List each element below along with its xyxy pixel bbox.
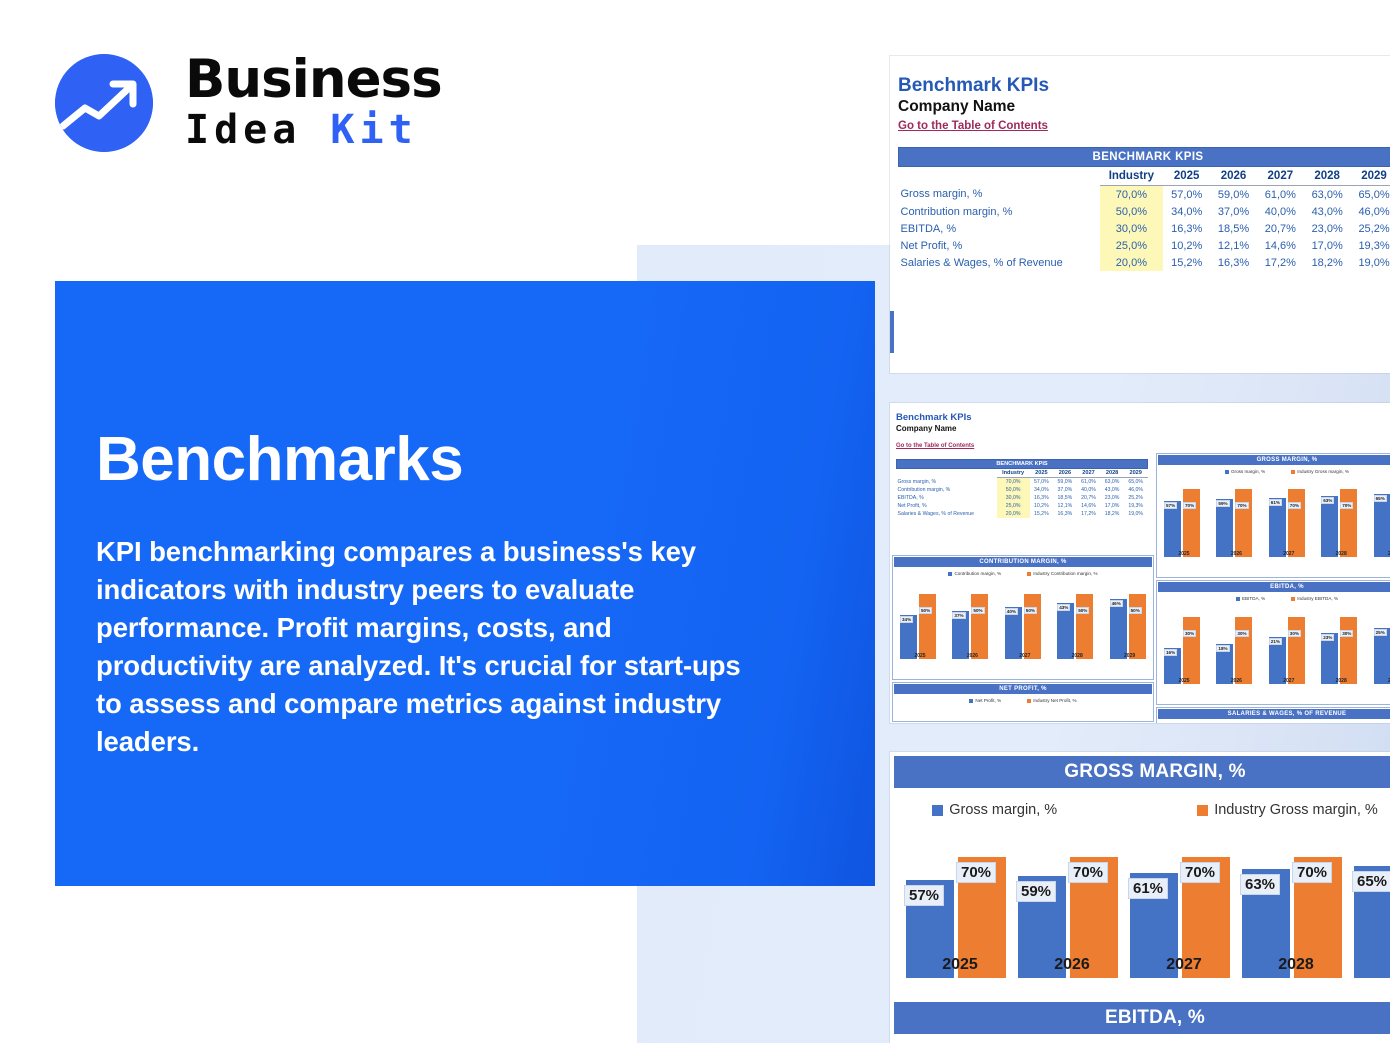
chart-plot-area: 16%30%202518%30%202621%30%202723%30%2028… [1157,604,1390,696]
bar-label-company: 37% [952,612,965,619]
chart-title: CONTRIBUTION MARGIN, % [894,557,1152,567]
cell-2029: 25,2% [1351,220,1390,237]
bar-label-industry: 30% [1340,630,1353,637]
chart-group-2029: 25%30%2029 [1373,604,1390,684]
bar-industry [1183,489,1200,557]
bar-industry [1340,489,1357,557]
chart-group-2025: 57%70%2025 [1163,477,1205,557]
cell-2025: 15,2% [1163,254,1210,271]
cell-2029: 19,0% [1351,254,1390,271]
table-of-contents-link[interactable]: Go to the Table of Contents [898,120,1048,132]
legend-item-0: Gross margin, % [932,802,1057,818]
cell-industry: 50,0% [1100,203,1164,220]
cell-2027: 40,0% [1257,203,1304,220]
cell-2029: 25,2% [1124,494,1148,502]
bar-label-industry: 70% [1183,502,1196,509]
bar-label-industry: 50% [1076,607,1089,614]
bar-label-industry: 70% [1340,502,1353,509]
legend-item-0: Net Profit, % [969,698,1001,703]
brand-name-line1: Business [185,51,442,109]
cell-2027: 14,6% [1257,237,1304,254]
cell-2028: 43,0% [1304,203,1351,220]
chart-xtick: 2029 [1352,956,1390,974]
chart-xtick: 2026 [1016,956,1128,974]
bar-label-company: 57% [1164,502,1177,509]
bar-industry [919,594,936,659]
bar-industry [971,594,988,659]
chart-legend: EBITDA, %Industry EBITDA, % [890,1038,1390,1043]
table-row: Net Profit, %25,0%10,2%12,1%14,6%17,0%19… [899,237,1390,254]
legend-swatch-0 [948,572,952,576]
brand-name-idea: Idea [185,107,330,153]
legend-swatch-0 [932,805,943,816]
bar-label-company: 63% [1321,497,1334,504]
cell-2026: 16,3% [1210,254,1257,271]
chart-ebitda-large[interactable]: EBITDA, %EBITDA, %Industry EBITDA, % [890,998,1390,1043]
chart-xtick: 2028 [1240,956,1352,974]
bar-label-industry: 50% [1129,607,1142,614]
cell-2027: 14,6% [1077,502,1101,510]
chart-group-2026: 59%70%2026 [1215,477,1257,557]
legend-item-1: Industry Contribution margin, % [1027,571,1097,576]
chart-xtick: 2028 [1320,551,1362,557]
legend-item-0: EBITDA, % [1236,596,1265,601]
table-row: Contribution margin, %50,0%34,0%37,0%40,… [897,486,1148,494]
legend-item-1: Industry EBITDA, % [1291,596,1338,601]
row-label: Net Profit, % [897,502,997,510]
chart-title: EBITDA, % [1158,582,1390,592]
cell-2029: 65,0% [1351,186,1390,204]
cell-2028: 17,0% [1100,502,1124,510]
bar-label-company: 23% [1321,634,1334,641]
bar-label-company: 34% [900,616,913,623]
cell-industry: 20,0% [997,510,1030,518]
chart-group-2028: 23%30%2028 [1320,604,1362,684]
bar-industry [1235,617,1252,684]
cell-2028: 18,2% [1100,510,1124,518]
legend-swatch-1 [1027,572,1031,576]
chart-title: EBITDA, % [894,1002,1390,1034]
bar-label-industry: 50% [1024,607,1037,614]
chart-xtick: 2025 [904,956,1016,974]
cell-industry: 30,0% [997,494,1030,502]
bar-label-company: 59% [1016,881,1056,902]
table-band-header: BENCHMARK KPIS [899,148,1390,167]
legend-item-0: Gross margin, % [1225,469,1265,474]
brand-name-kit: Kit [330,107,417,153]
cell-2026: 16,3% [1053,510,1077,518]
cell-2027: 17,2% [1077,510,1101,518]
table-row: Gross margin, %70,0%57,0%59,0%61,0%63,0%… [899,186,1390,204]
bar-label-company: 65% [1374,495,1387,502]
legend-swatch-1 [1197,805,1208,816]
cell-2025: 10,2% [1030,502,1054,510]
chart-xtick: 2027 [1268,678,1310,684]
column-header-2027: 2027 [1257,167,1304,186]
chart-legend: Contribution margin, %Industry Contribut… [893,568,1153,576]
cell-2025: 57,0% [1030,478,1054,487]
page-description: KPI benchmarking compares a business's k… [96,533,772,761]
cell-2025: 10,2% [1163,237,1210,254]
column-header-2029: 2029 [1124,469,1148,478]
cell-2029: 19,3% [1351,237,1390,254]
bar-industry [1024,594,1041,659]
page-title: Benchmarks [96,424,796,496]
table-row: EBITDA, %30,0%16,3%18,5%20,7%23,0%25,2% [899,220,1390,237]
bar-company [1269,498,1286,557]
bar-label-industry: 70% [1068,862,1108,883]
chart-legend: EBITDA, %Industry EBITDA, % [1157,593,1390,601]
table-header-row-small: Industry20252026202720282029 [897,469,1148,478]
chart-xtick: 2025 [1163,551,1205,557]
cell-industry: 50,0% [997,486,1030,494]
row-label: Gross margin, % [899,186,1100,204]
chart-xtick: 2025 [899,653,941,659]
bar-label-industry: 30% [1235,630,1248,637]
cell-2026: 12,1% [1053,502,1077,510]
table-row: Contribution margin, %50,0%34,0%37,0%40,… [899,203,1390,220]
table-body-small: Gross margin, %70,0%57,0%59,0%61,0%63,0%… [897,478,1148,519]
cell-2029: 65,0% [1124,478,1148,487]
benchmark-kpi-table: BENCHMARK KPIS Industry20252026202720282… [898,147,1390,271]
chart-group-2027: 61%70%2027 [1268,477,1310,557]
chart-gross-margin-mini[interactable]: GROSS MARGIN, %Gross margin, %Industry G… [1156,453,1390,578]
bar-label-industry: 70% [1180,862,1220,883]
legend-swatch-1 [1027,699,1031,703]
row-label: Contribution margin, % [899,203,1100,220]
cell-industry: 70,0% [997,478,1030,487]
chart-xtick: 2027 [1004,653,1046,659]
chart-group-2025: 57%70%2025 [904,838,1016,978]
legend-swatch-1 [1291,597,1295,601]
bar-label-company: 21% [1269,638,1282,645]
spreadsheet-card-table[interactable]: Benchmark KPIs Company Name Go to the Ta… [890,56,1390,373]
cell-2025: 16,3% [1030,494,1054,502]
legend-item-1: Industry Net Profit, % [1027,698,1076,703]
cell-2029: 46,0% [1124,486,1148,494]
cell-industry: 25,0% [997,502,1030,510]
bar-label-industry: 70% [1235,502,1248,509]
row-label: EBITDA, % [897,494,997,502]
chart-group-2029: 46%50%2029 [1109,579,1151,659]
chart-xtick: 2027 [1128,956,1240,974]
chart-xtick: 2026 [1215,678,1257,684]
table-row: Gross margin, %70,0%57,0%59,0%61,0%63,0%… [897,478,1148,487]
cell-2026: 59,0% [1053,478,1077,487]
bar-label-company: 57% [904,885,944,906]
row-label: Salaries & Wages, % of Revenue [899,254,1100,271]
chart-legend: Gross margin, %Industry Gross margin, % [1157,466,1390,474]
chart-group-2026: 37%50%2026 [951,579,993,659]
cell-2026: 18,5% [1210,220,1257,237]
cell-2026: 37,0% [1210,203,1257,220]
row-label: EBITDA, % [899,220,1100,237]
chart-xtick: 2029 [1109,653,1151,659]
cell-2025: 16,3% [1163,220,1210,237]
bar-industry [1340,617,1357,684]
cell-2025: 34,0% [1163,203,1210,220]
bar-company [1110,599,1127,659]
cell-2029: 19,0% [1124,510,1148,518]
table-of-contents-link-small[interactable]: Go to the Table of Contents [896,443,974,449]
bar-label-company: 40% [1005,608,1018,615]
chart-plot-area: 57%70%202559%70%202661%70%202763%70%2028… [1157,477,1390,569]
chart-group-2028: 63%70%2028 [1320,477,1362,557]
chart-xtick: 2026 [951,653,993,659]
cell-2027: 61,0% [1077,478,1101,487]
bar-label-company: 18% [1216,645,1229,652]
table-header-row: Industry20252026202720282029 [899,167,1390,186]
cell-industry: 30,0% [1100,220,1164,237]
brand-wordmark: Business Idea Kit [185,51,442,153]
chart-title: NET PROFIT, % [894,684,1152,694]
cell-2026: 18,5% [1053,494,1077,502]
bar-company [1374,628,1390,684]
bar-industry [1076,594,1093,659]
chart-xtick: 2027 [1268,551,1310,557]
column-header-2028: 2028 [1304,167,1351,186]
row-label: Contribution margin, % [897,486,997,494]
legend-swatch-0 [1236,597,1240,601]
bar-label-company: 25% [1374,629,1387,636]
chart-xtick: 2029 [1373,678,1390,684]
legend-swatch-1 [1291,470,1295,474]
bar-label-industry: 30% [1288,630,1301,637]
row-accent-rail [890,311,894,353]
chart-title: SALARIES & WAGES, % OF REVENUE [1158,709,1390,719]
table-band-header-small: BENCHMARK KPIS [897,460,1148,469]
chart-group-2027: 21%30%2027 [1268,604,1310,684]
cell-2028: 17,0% [1304,237,1351,254]
chart-gross-margin-large[interactable]: GROSS MARGIN, %Gross margin, %Industry G… [890,752,1390,1007]
table-row: EBITDA, %30,0%16,3%18,5%20,7%23,0%25,2% [897,494,1148,502]
sheet-subtitle: Company Name [898,97,1390,116]
cell-industry: 20,0% [1100,254,1164,271]
bar-industry [1183,617,1200,684]
bar-label-company: 63% [1240,874,1280,895]
slide-canvas: Business Idea Kit Benchmarks KPI benchma… [0,0,1390,1043]
brand-logo[interactable]: Business Idea Kit [55,51,455,157]
sheet-title: Benchmark KPIs [898,74,1390,97]
table-row: Salaries & Wages, % of Revenue20,0%15,2%… [899,254,1390,271]
bar-company [1374,494,1390,557]
growth-arrow-icon [55,54,153,152]
bar-label-company: 16% [1164,649,1177,656]
cell-2026: 12,1% [1210,237,1257,254]
cell-2025: 57,0% [1163,186,1210,204]
table-row: Net Profit, %25,0%10,2%12,1%14,6%17,0%19… [897,502,1148,510]
cell-2025: 15,2% [1030,510,1054,518]
bar-industry [1129,594,1146,659]
chart-group-2028: 43%50%2028 [1056,579,1098,659]
cell-2027: 20,7% [1077,494,1101,502]
chart-group-2029: 65%70%2029 [1352,838,1390,978]
cell-2029: 19,3% [1124,502,1148,510]
column-header-2029: 2029 [1351,167,1390,186]
cell-2028: 63,0% [1304,186,1351,204]
column-header-industry: Industry [1100,167,1164,186]
cell-2029: 46,0% [1351,203,1390,220]
chart-legend: Salaries & Wages, % of RevenueIndustry S… [1157,720,1390,723]
chart-xtick: 2025 [1163,678,1205,684]
spreadsheet-card-dashboard[interactable]: Benchmark KPIs Company Name Go to the Ta… [890,403,1390,723]
chart-title: GROSS MARGIN, % [1158,455,1390,465]
cell-2027: 20,7% [1257,220,1304,237]
bar-label-company: 61% [1128,878,1168,899]
column-header-industry: Industry [997,469,1030,478]
bar-industry [1288,617,1305,684]
bar-label-industry: 70% [1292,862,1332,883]
cell-2026: 37,0% [1053,486,1077,494]
cell-2028: 18,2% [1304,254,1351,271]
band-header-label: BENCHMARK KPIS [899,148,1390,167]
chart-group-2028: 63%70%2028 [1240,838,1352,978]
row-label: Net Profit, % [899,237,1100,254]
sheet-subtitle-small: Company Name [896,424,1390,434]
sheet-title-small: Benchmark KPIs [896,412,1390,424]
column-header-2026: 2026 [1053,469,1077,478]
bar-label-company: 59% [1216,500,1229,507]
bar-label-company: 46% [1110,600,1123,607]
chart-legend: Net Profit, %Industry Net Profit, % [893,695,1153,703]
spreadsheet-card-large-charts[interactable]: GROSS MARGIN, %Gross margin, %Industry G… [890,752,1390,1043]
bar-label-industry: 50% [971,607,984,614]
chart-plot-area: 57%70%202559%70%202661%70%202763%70%2028… [890,840,1390,1010]
bar-label-industry: 70% [1288,502,1301,509]
chart-group-2025: 34%50%2025 [899,579,941,659]
legend-item-1: Industry Gross margin, % [1291,469,1349,474]
chart-title: GROSS MARGIN, % [894,756,1390,788]
legend-item-0: Contribution margin, % [948,571,1001,576]
column-header-2027: 2027 [1077,469,1101,478]
cell-2027: 40,0% [1077,486,1101,494]
bar-label-company: 43% [1057,604,1070,611]
row-label: Gross margin, % [897,478,997,487]
chart-xtick: 2028 [1056,653,1098,659]
legend-swatch-0 [1225,470,1229,474]
cell-2028: 23,0% [1100,494,1124,502]
chart-group-2026: 59%70%2026 [1016,838,1128,978]
bar-label-company: 65% [1352,871,1390,892]
cell-2026: 59,0% [1210,186,1257,204]
bar-label-company: 61% [1269,499,1282,506]
legend-item-1: Industry Gross margin, % [1197,802,1378,818]
cell-2028: 63,0% [1100,478,1124,487]
band-header-label-small: BENCHMARK KPIS [897,460,1148,469]
row-label: Salaries & Wages, % of Revenue [897,510,997,518]
brand-name-line2: Idea Kit [185,107,442,153]
chart-net-profit-mini[interactable]: NET PROFIT, %Net Profit, %Industry Net P… [892,682,1154,722]
table-body: Gross margin, %70,0%57,0%59,0%61,0%63,0%… [899,186,1390,272]
cell-2027: 17,2% [1257,254,1304,271]
chart-legend: Gross margin, %Industry Gross margin, % [890,792,1390,818]
chart-group-2027: 40%50%2027 [1004,579,1046,659]
chart-salaries-wages-mini[interactable]: SALARIES & WAGES, % OF REVENUESalaries &… [1156,707,1390,723]
bar-company [1321,496,1338,557]
column-header-2026: 2026 [1210,167,1257,186]
chart-contribution-margin-mini[interactable]: CONTRIBUTION MARGIN, %Contribution margi… [892,555,1154,680]
cell-2028: 43,0% [1100,486,1124,494]
bar-company [1216,499,1233,557]
bar-industry [1288,489,1305,557]
legend-swatch-0 [969,699,973,703]
column-header-2028: 2028 [1100,469,1124,478]
chart-group-2026: 18%30%2026 [1215,604,1257,684]
bar-industry [1235,489,1252,557]
benchmark-kpi-table-small: BENCHMARK KPIS Industry20252026202720282… [896,459,1148,518]
chart-ebitda-mini[interactable]: EBITDA, %EBITDA, %Industry EBITDA, %16%3… [1156,580,1390,705]
cell-industry: 25,0% [1100,237,1164,254]
bar-company [1057,603,1074,659]
column-header-2025: 2025 [1163,167,1210,186]
chart-group-2027: 61%70%2027 [1128,838,1240,978]
chart-xtick: 2026 [1215,551,1257,557]
bar-label-industry: 30% [1183,630,1196,637]
bar-label-industry: 70% [956,862,996,883]
table-row: Salaries & Wages, % of Revenue20,0%15,2%… [897,510,1148,518]
row-label-header [899,167,1100,186]
cell-2027: 61,0% [1257,186,1304,204]
column-header-2025: 2025 [1030,469,1054,478]
bar-company [1164,501,1181,557]
cell-2028: 23,0% [1304,220,1351,237]
cell-2025: 34,0% [1030,486,1054,494]
chart-xtick: 2028 [1320,678,1362,684]
bar-label-industry: 50% [919,607,932,614]
chart-group-2029: 65%70%2029 [1373,477,1390,557]
chart-group-2025: 16%30%2025 [1163,604,1205,684]
cell-industry: 70,0% [1100,186,1164,204]
chart-xtick: 2029 [1373,551,1390,557]
chart-plot-area: 34%50%202537%50%202640%50%202743%50%2028… [893,579,1153,671]
